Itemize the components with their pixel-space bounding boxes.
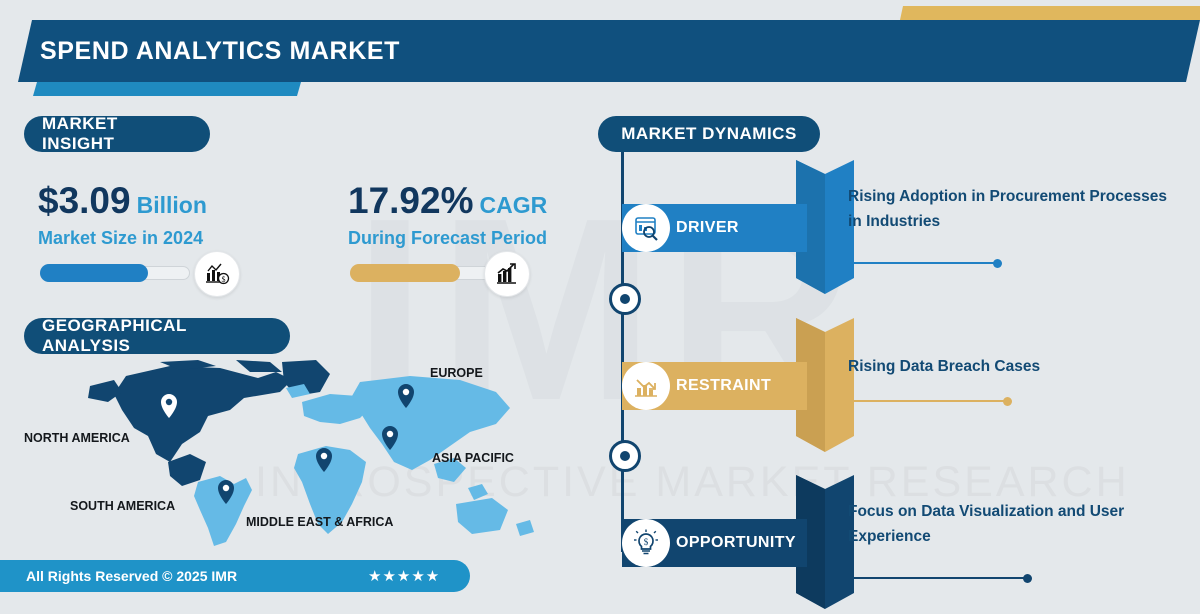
declining-bar-chart-icon (622, 362, 670, 410)
geographical-analysis-header: GEOGRAPHICAL ANALYSIS (24, 318, 290, 354)
market-insight-header: MARKET INSIGHT (24, 116, 210, 152)
map-label-north-america: NORTH AMERICA (24, 431, 130, 445)
rating-stars: ★★★★★ (368, 567, 440, 585)
cagr-progress-bar (350, 264, 500, 282)
page-title: SPEND ANALYTICS MARKET (40, 20, 400, 82)
bar-chart-dollar-icon: $ (194, 251, 240, 297)
infographic-canvas: IMR INTROSPECTIVE MARKET RESEARCH SPEND … (0, 0, 1200, 600)
dynamics-item-opportunity: $ OPPORTUNITY Focus on Data Visualizatio… (600, 497, 1200, 607)
market-size-progress-bar (40, 264, 190, 282)
stat-cagr: 17.92%CAGR During Forecast Period (348, 180, 547, 249)
progress-fill (350, 264, 460, 282)
dynamics-item-driver: DRIVER Rising Adoption in Procurement Pr… (600, 182, 1200, 292)
stat-market-size: $3.09Billion Market Size in 2024 (38, 180, 207, 249)
map-region-north-america (88, 360, 292, 486)
map-region-asia (352, 376, 510, 500)
title-banner: SPEND ANALYTICS MARKET (18, 20, 1200, 82)
restraint-text: Rising Data Breach Cases (848, 354, 1178, 379)
driver-ribbon: DRIVER (622, 204, 807, 252)
market-dynamics-header: MARKET DYNAMICS (598, 116, 820, 152)
market-size-value: $3.09 (38, 180, 131, 221)
gold-accent-tab (900, 6, 1200, 20)
cagr-value: 17.92% (348, 180, 474, 221)
lightbulb-dollar-icon: $ (622, 519, 670, 567)
market-size-caption: Market Size in 2024 (38, 228, 207, 249)
document-magnifier-icon (622, 204, 670, 252)
opportunity-connector (848, 577, 1028, 579)
svg-text:$: $ (644, 537, 649, 547)
driver-label: DRIVER (676, 204, 739, 252)
growth-arrow-chart-icon (484, 251, 530, 297)
opportunity-label: OPPORTUNITY (676, 519, 796, 567)
cagr-caption: During Forecast Period (348, 228, 547, 249)
progress-fill (40, 264, 148, 282)
title-accent-strip (33, 82, 301, 96)
opportunity-text: Focus on Data Visualization and User Exp… (848, 499, 1178, 549)
restraint-label: RESTRAINT (676, 362, 771, 410)
cagr-unit: CAGR (480, 192, 548, 218)
restraint-connector (848, 400, 1008, 402)
map-label-middle-east-africa: MIDDLE EAST & AFRICA (246, 515, 393, 529)
dynamics-item-restraint: RESTRAINT Rising Data Breach Cases (600, 340, 1200, 450)
copyright-text: All Rights Reserved © 2025 IMR (26, 568, 237, 584)
restraint-ribbon: RESTRAINT (622, 362, 807, 410)
svg-text:$: $ (222, 275, 226, 284)
map-label-south-america: SOUTH AMERICA (70, 499, 175, 513)
driver-connector (848, 262, 998, 264)
map-label-europe: EUROPE (430, 366, 483, 380)
market-size-unit: Billion (137, 192, 207, 218)
driver-text: Rising Adoption in Procurement Processes… (848, 184, 1178, 234)
opportunity-ribbon: $ OPPORTUNITY (622, 519, 807, 567)
footer-bar: All Rights Reserved © 2025 IMR ★★★★★ (0, 560, 470, 592)
map-region-oceania (456, 498, 534, 536)
map-label-asia-pacific: ASIA PACIFIC (432, 451, 514, 465)
